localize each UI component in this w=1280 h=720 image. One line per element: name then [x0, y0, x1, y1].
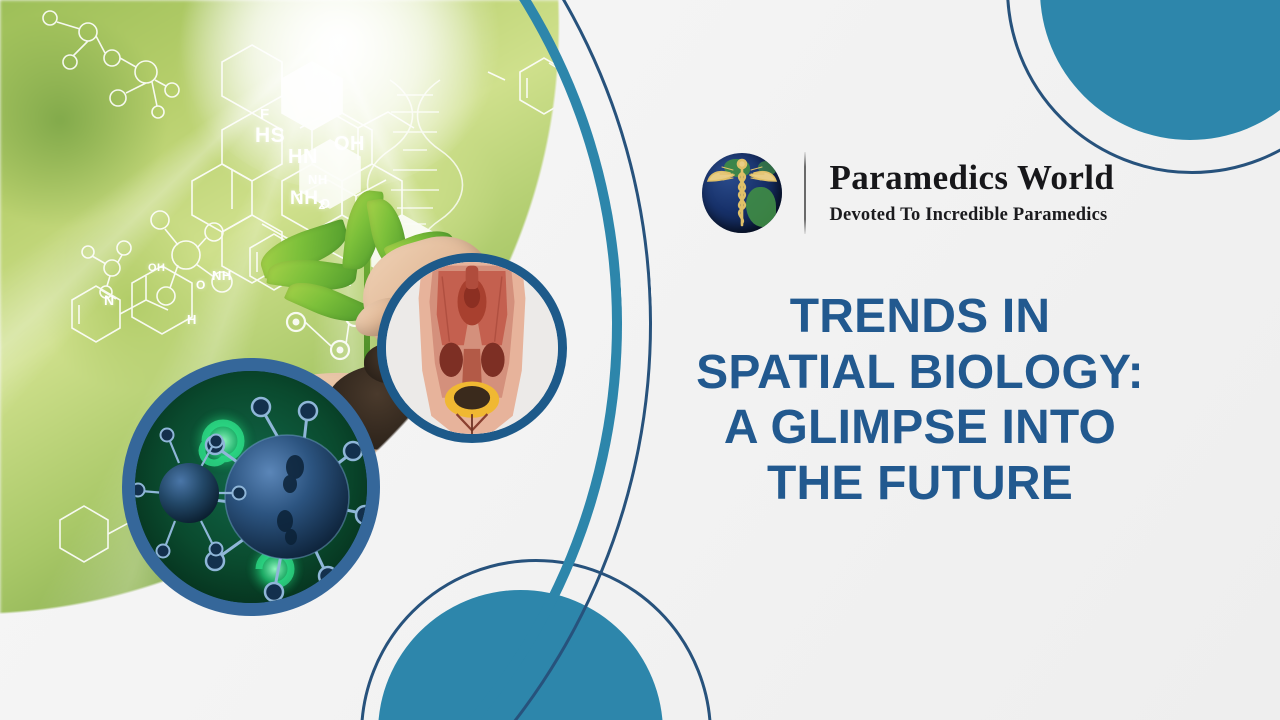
anatomy-torso-illustration: [386, 262, 558, 434]
brand-logo-block[interactable]: Paramedics World Devoted To Incredible P…: [702, 152, 1114, 234]
brand-tagline: Devoted To Incredible Paramedics: [830, 205, 1115, 226]
anatomy-torso-badge: [377, 253, 567, 443]
virus-illustration: [135, 371, 367, 603]
page-title: TRENDS IN SPATIAL BIOLOGY: A GLIMPSE INT…: [620, 289, 1220, 512]
brand-name: Paramedics World: [830, 160, 1115, 197]
globe-caduceus-icon: [702, 153, 782, 233]
title-line-3: A GLIMPSE INTO: [620, 400, 1220, 456]
brand-text: Paramedics World Devoted To Incredible P…: [830, 160, 1115, 227]
photo-edge-arc-navy: [0, 0, 685, 720]
caduceus-symbol-icon: [702, 153, 782, 233]
virus-microbe-badge: [122, 358, 380, 616]
title-line-2: SPATIAL BIOLOGY:: [620, 345, 1220, 401]
title-line-1: TRENDS IN: [620, 289, 1220, 345]
logo-divider: [804, 152, 806, 234]
poster-canvas: F HS OH HN NH NH2 N H OH O NH O: [0, 0, 1280, 720]
title-line-4: THE FUTURE: [620, 456, 1220, 512]
